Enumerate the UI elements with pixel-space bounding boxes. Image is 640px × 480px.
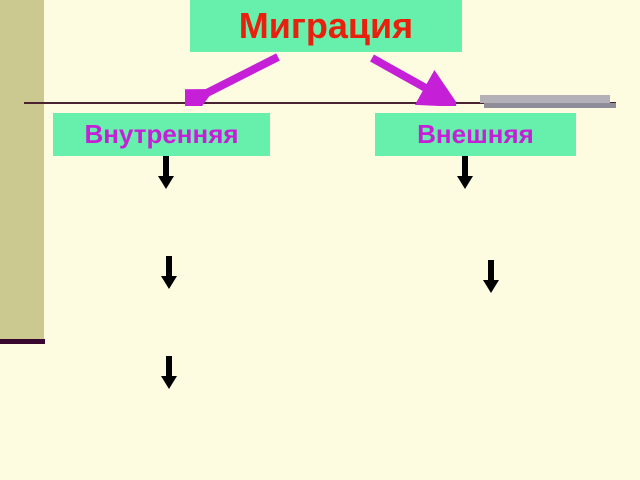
branch-label-external: Внешняя: [417, 119, 534, 150]
title-box: Миграция: [190, 0, 462, 52]
down-arrow-internal-2-icon: [159, 256, 179, 290]
left-band-underline: [0, 339, 45, 344]
left-decorative-band: [0, 0, 44, 339]
branch-label-internal: Внутренняя: [84, 119, 238, 150]
arrow-title-to-external-icon: [366, 52, 456, 106]
down-arrow-internal-1-icon: [156, 156, 176, 190]
down-arrow-external-1-icon: [455, 156, 475, 190]
slide-canvas: Миграция Внутренняя Внешняя: [0, 0, 640, 480]
page-title: Миграция: [239, 5, 413, 47]
grey-accent-bar: [480, 95, 616, 108]
down-arrow-internal-3-icon: [159, 356, 179, 390]
grey-accent-bar-bottom: [484, 103, 616, 108]
grey-accent-bar-top: [480, 95, 610, 103]
branch-box-external: Внешняя: [375, 113, 576, 156]
arrow-title-to-internal-icon: [185, 52, 285, 106]
down-arrow-external-2-icon: [481, 260, 501, 294]
branch-box-internal: Внутренняя: [53, 113, 270, 156]
